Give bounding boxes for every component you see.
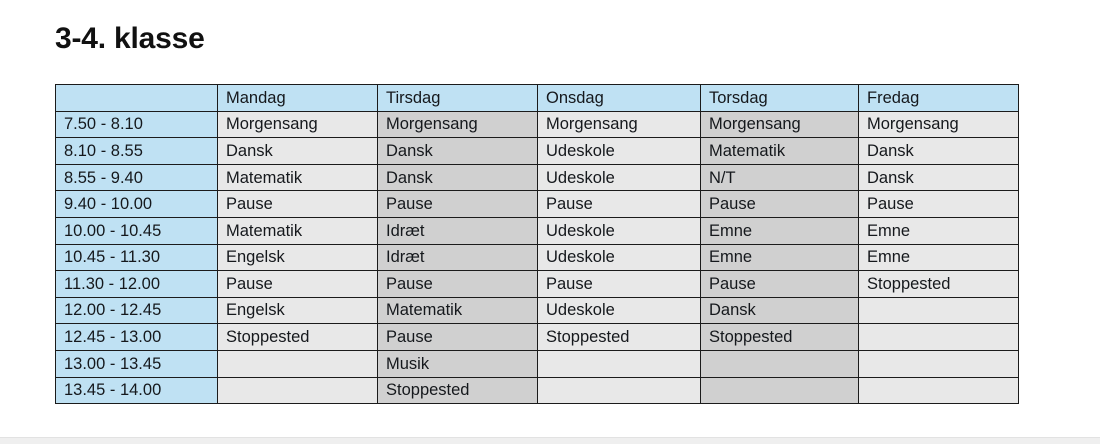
schedule-cell: Dansk bbox=[378, 164, 538, 191]
schedule-cell bbox=[859, 297, 1019, 324]
time-slot-cell: 8.10 - 8.55 bbox=[56, 138, 218, 165]
schedule-cell: Pause bbox=[218, 191, 378, 218]
weekly-schedule-table: MandagTirsdagOnsdagTorsdagFredag 7.50 - … bbox=[55, 84, 1019, 404]
schedule-row: 11.30 - 12.00PausePausePausePauseStoppes… bbox=[56, 271, 1019, 298]
schedule-cell: Pause bbox=[701, 271, 859, 298]
time-slot-cell: 7.50 - 8.10 bbox=[56, 111, 218, 138]
schedule-cell: Engelsk bbox=[218, 297, 378, 324]
schedule-cell: Dansk bbox=[378, 138, 538, 165]
schedule-cell: Udeskole bbox=[538, 244, 701, 271]
schedule-row: 10.00 - 10.45MatematikIdrætUdeskoleEmneE… bbox=[56, 217, 1019, 244]
column-header-day-5: Fredag bbox=[859, 85, 1019, 112]
schedule-cell: Stoppested bbox=[701, 324, 859, 351]
schedule-cell: Dansk bbox=[218, 138, 378, 165]
schedule-cell: Morgensang bbox=[378, 111, 538, 138]
schedule-cell: Pause bbox=[378, 271, 538, 298]
schedule-cell: Emne bbox=[701, 244, 859, 271]
schedule-cell: Matematik bbox=[701, 138, 859, 165]
time-slot-cell: 13.00 - 13.45 bbox=[56, 350, 218, 377]
schedule-table-head: MandagTirsdagOnsdagTorsdagFredag bbox=[56, 85, 1019, 112]
time-slot-cell: 12.45 - 13.00 bbox=[56, 324, 218, 351]
schedule-cell: Morgensang bbox=[701, 111, 859, 138]
schedule-cell: Morgensang bbox=[538, 111, 701, 138]
schedule-cell: Matematik bbox=[378, 297, 538, 324]
schedule-row: 8.55 - 9.40MatematikDanskUdeskoleN/TDans… bbox=[56, 164, 1019, 191]
schedule-row: 12.45 - 13.00StoppestedPauseStoppestedSt… bbox=[56, 324, 1019, 351]
schedule-cell: Udeskole bbox=[538, 164, 701, 191]
schedule-cell: Matematik bbox=[218, 217, 378, 244]
schedule-cell: Stoppested bbox=[378, 377, 538, 404]
time-slot-cell: 10.45 - 11.30 bbox=[56, 244, 218, 271]
column-header-time bbox=[56, 85, 218, 112]
schedule-cell: Emne bbox=[859, 244, 1019, 271]
schedule-cell bbox=[859, 324, 1019, 351]
schedule-cell: Engelsk bbox=[218, 244, 378, 271]
schedule-row: 9.40 - 10.00PausePausePausePausePause bbox=[56, 191, 1019, 218]
schedule-cell: Pause bbox=[538, 191, 701, 218]
schedule-cell: Stoppested bbox=[538, 324, 701, 351]
time-slot-cell: 11.30 - 12.00 bbox=[56, 271, 218, 298]
time-slot-cell: 8.55 - 9.40 bbox=[56, 164, 218, 191]
schedule-cell bbox=[538, 350, 701, 377]
page-title: 3-4. klasse bbox=[55, 20, 205, 58]
schedule-row: 13.00 - 13.45Musik bbox=[56, 350, 1019, 377]
schedule-cell bbox=[859, 350, 1019, 377]
column-header-day-3: Onsdag bbox=[538, 85, 701, 112]
schedule-cell: Pause bbox=[859, 191, 1019, 218]
schedule-cell bbox=[859, 377, 1019, 404]
schedule-cell: Pause bbox=[378, 191, 538, 218]
column-header-day-1: Mandag bbox=[218, 85, 378, 112]
schedule-cell bbox=[701, 350, 859, 377]
schedule-cell: Pause bbox=[538, 271, 701, 298]
schedule-row: 13.45 - 14.00Stoppested bbox=[56, 377, 1019, 404]
schedule-cell: Pause bbox=[218, 271, 378, 298]
schedule-cell: Dansk bbox=[701, 297, 859, 324]
schedule-cell: N/T bbox=[701, 164, 859, 191]
time-slot-cell: 9.40 - 10.00 bbox=[56, 191, 218, 218]
schedule-cell: Udeskole bbox=[538, 138, 701, 165]
schedule-cell: Idræt bbox=[378, 244, 538, 271]
schedule-row: 7.50 - 8.10MorgensangMorgensangMorgensan… bbox=[56, 111, 1019, 138]
schedule-cell: Morgensang bbox=[218, 111, 378, 138]
schedule-cell bbox=[218, 350, 378, 377]
schedule-cell: Pause bbox=[701, 191, 859, 218]
schedule-cell: Musik bbox=[378, 350, 538, 377]
time-slot-cell: 13.45 - 14.00 bbox=[56, 377, 218, 404]
schedule-cell bbox=[218, 377, 378, 404]
time-slot-cell: 10.00 - 10.45 bbox=[56, 217, 218, 244]
time-slot-cell: 12.00 - 12.45 bbox=[56, 297, 218, 324]
column-header-day-4: Torsdag bbox=[701, 85, 859, 112]
schedule-cell: Idræt bbox=[378, 217, 538, 244]
schedule-cell: Emne bbox=[701, 217, 859, 244]
schedule-cell: Udeskole bbox=[538, 297, 701, 324]
schedule-cell: Dansk bbox=[859, 138, 1019, 165]
schedule-header-row: MandagTirsdagOnsdagTorsdagFredag bbox=[56, 85, 1019, 112]
schedule-cell: Dansk bbox=[859, 164, 1019, 191]
schedule-cell: Stoppested bbox=[218, 324, 378, 351]
schedule-cell bbox=[538, 377, 701, 404]
schedule-row: 8.10 - 8.55DanskDanskUdeskoleMatematikDa… bbox=[56, 138, 1019, 165]
document-page: 3-4. klasse MandagTirsdagOnsdagTorsdagFr… bbox=[0, 0, 1100, 437]
column-header-day-2: Tirsdag bbox=[378, 85, 538, 112]
schedule-cell: Udeskole bbox=[538, 217, 701, 244]
schedule-row: 10.45 - 11.30EngelskIdrætUdeskoleEmneEmn… bbox=[56, 244, 1019, 271]
schedule-cell: Emne bbox=[859, 217, 1019, 244]
schedule-row: 12.00 - 12.45EngelskMatematikUdeskoleDan… bbox=[56, 297, 1019, 324]
schedule-table-container: MandagTirsdagOnsdagTorsdagFredag 7.50 - … bbox=[55, 84, 1018, 404]
schedule-cell: Matematik bbox=[218, 164, 378, 191]
schedule-cell: Pause bbox=[378, 324, 538, 351]
schedule-cell bbox=[701, 377, 859, 404]
schedule-cell: Morgensang bbox=[859, 111, 1019, 138]
schedule-cell: Stoppested bbox=[859, 271, 1019, 298]
schedule-table-body: 7.50 - 8.10MorgensangMorgensangMorgensan… bbox=[56, 111, 1019, 404]
